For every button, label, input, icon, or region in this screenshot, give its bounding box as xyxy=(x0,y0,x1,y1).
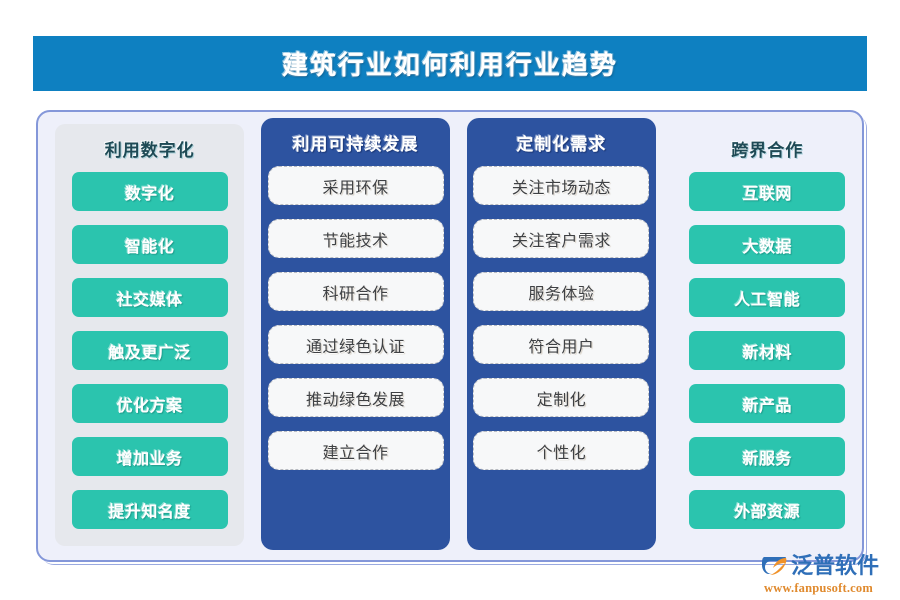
pill-item[interactable]: 提升知名度 xyxy=(72,490,228,529)
pill-item[interactable]: 个性化 xyxy=(473,431,649,470)
pill-item[interactable]: 新服务 xyxy=(689,437,845,476)
pill-item[interactable]: 定制化 xyxy=(473,378,649,417)
logo-name: 泛普软件 xyxy=(791,555,879,577)
pill-item[interactable]: 智能化 xyxy=(72,225,228,264)
pill-item[interactable]: 新产品 xyxy=(689,384,845,423)
column-header-sustainable-development: 利用可持续发展 xyxy=(293,136,419,153)
pill-item[interactable]: 新材料 xyxy=(689,331,845,370)
page-title: 建筑行业如何利用行业趋势 xyxy=(282,45,618,82)
logo-url: www.fanpusoft.com xyxy=(764,581,892,596)
column-digitalization: 利用数字化 数字化 智能化 社交媒体 触及更广泛 优化方案 增加业务 提升知名度 xyxy=(55,124,244,546)
page-title-banner: 建筑行业如何利用行业趋势 xyxy=(33,36,867,91)
column-container: 利用数字化 数字化 智能化 社交媒体 触及更广泛 优化方案 增加业务 提升知名度… xyxy=(38,112,862,560)
pill-item[interactable]: 建立合作 xyxy=(268,431,444,470)
column-customized-demand: 定制化需求 关注市场动态 关注客户需求 服务体验 符合用户 定制化 个性化 xyxy=(467,118,656,550)
pill-item[interactable]: 优化方案 xyxy=(72,384,228,423)
brand-logo: 泛普软件 www.fanpusoft.com xyxy=(762,552,892,596)
column-header-digitalization: 利用数字化 xyxy=(105,142,195,159)
pill-item[interactable]: 通过绿色认证 xyxy=(268,325,444,364)
column-header-customized-demand: 定制化需求 xyxy=(516,136,606,153)
pill-item[interactable]: 人工智能 xyxy=(689,278,845,317)
pill-item[interactable]: 触及更广泛 xyxy=(72,331,228,370)
pill-item[interactable]: 关注市场动态 xyxy=(473,166,649,205)
pill-item[interactable]: 大数据 xyxy=(689,225,845,264)
pill-item[interactable]: 推动绿色发展 xyxy=(268,378,444,417)
pill-item[interactable]: 社交媒体 xyxy=(72,278,228,317)
pill-item[interactable]: 互联网 xyxy=(689,172,845,211)
pill-item[interactable]: 采用环保 xyxy=(268,166,444,205)
pill-item[interactable]: 数字化 xyxy=(72,172,228,211)
pill-item[interactable]: 节能技术 xyxy=(268,219,444,258)
column-sustainable-development: 利用可持续发展 采用环保 节能技术 科研合作 通过绿色认证 推动绿色发展 建立合… xyxy=(261,118,450,550)
column-cross-border-cooperation: 跨界合作 互联网 大数据 人工智能 新材料 新产品 新服务 外部资源 xyxy=(673,124,862,546)
pill-item[interactable]: 科研合作 xyxy=(268,272,444,311)
pill-item[interactable]: 符合用户 xyxy=(473,325,649,364)
pill-item[interactable]: 外部资源 xyxy=(689,490,845,529)
diagram-card: 利用数字化 数字化 智能化 社交媒体 触及更广泛 优化方案 增加业务 提升知名度… xyxy=(36,110,864,562)
pill-item[interactable]: 增加业务 xyxy=(72,437,228,476)
pill-item[interactable]: 服务体验 xyxy=(473,272,649,311)
fanpu-swoosh-icon xyxy=(762,554,788,578)
column-spacer xyxy=(656,112,672,560)
pill-item[interactable]: 关注客户需求 xyxy=(473,219,649,258)
column-spacer xyxy=(450,112,466,560)
column-header-cross-border-cooperation: 跨界合作 xyxy=(731,142,803,159)
logo-row: 泛普软件 xyxy=(762,552,892,579)
column-spacer xyxy=(244,112,260,560)
